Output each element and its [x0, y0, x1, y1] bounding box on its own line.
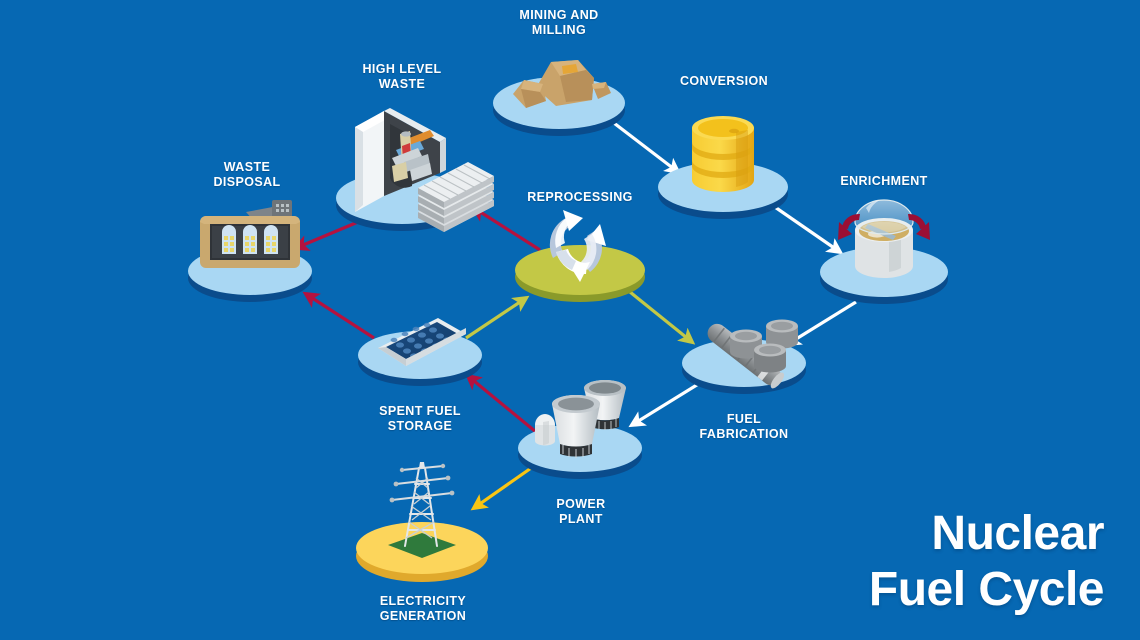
- nuclear-fuel-cycle-infographic: Mining and Milling Conversion Enrichment…: [0, 0, 1140, 640]
- node-mining-and-milling[interactable]: [493, 60, 625, 136]
- flow-fuel-fabrication-to-power-plant: [632, 383, 700, 425]
- node-conversion[interactable]: [658, 116, 788, 219]
- flow-conversion-to-enrichment: [772, 205, 840, 252]
- infographic-title: Nuclear Fuel Cycle: [869, 506, 1104, 618]
- flow-spent-fuel-storage-to-waste-disposal: [306, 294, 374, 338]
- fuel-pellet-3: [754, 344, 786, 373]
- node-spent-fuel-storage[interactable]: [358, 318, 482, 386]
- uranium-drum-icon: [692, 116, 754, 192]
- flow-power-plant-to-spent-fuel-storage: [468, 376, 536, 432]
- flow-reprocessing-to-fuel-fabrication: [630, 292, 692, 342]
- node-fuel-fabrication[interactable]: [682, 320, 806, 395]
- storage-vaults: [222, 225, 278, 254]
- flow-reprocessing-to-high-level-waste: [474, 208, 540, 250]
- node-power-plant[interactable]: [518, 380, 642, 479]
- reactor-dome-icon: [535, 414, 555, 446]
- flow-spent-fuel-storage-to-reprocessing: [466, 298, 526, 338]
- repository-icon: [200, 200, 300, 268]
- title-line-1: Nuclear: [869, 506, 1104, 562]
- flow-high-level-waste-to-waste-disposal: [296, 222, 358, 248]
- node-high-level-waste[interactable]: [336, 108, 494, 232]
- node-electricity-generation[interactable]: [356, 462, 488, 582]
- title-line-2: Fuel Cycle: [869, 562, 1104, 618]
- transmission-pylon-icon: [388, 462, 456, 558]
- flow-mining-to-conversion: [610, 120, 678, 172]
- node-reprocessing[interactable]: [515, 210, 645, 302]
- flow-power-plant-to-electricity-generation: [474, 466, 534, 508]
- flow-enrichment-to-fuel-fabrication: [788, 302, 856, 344]
- node-waste-disposal[interactable]: [188, 200, 312, 302]
